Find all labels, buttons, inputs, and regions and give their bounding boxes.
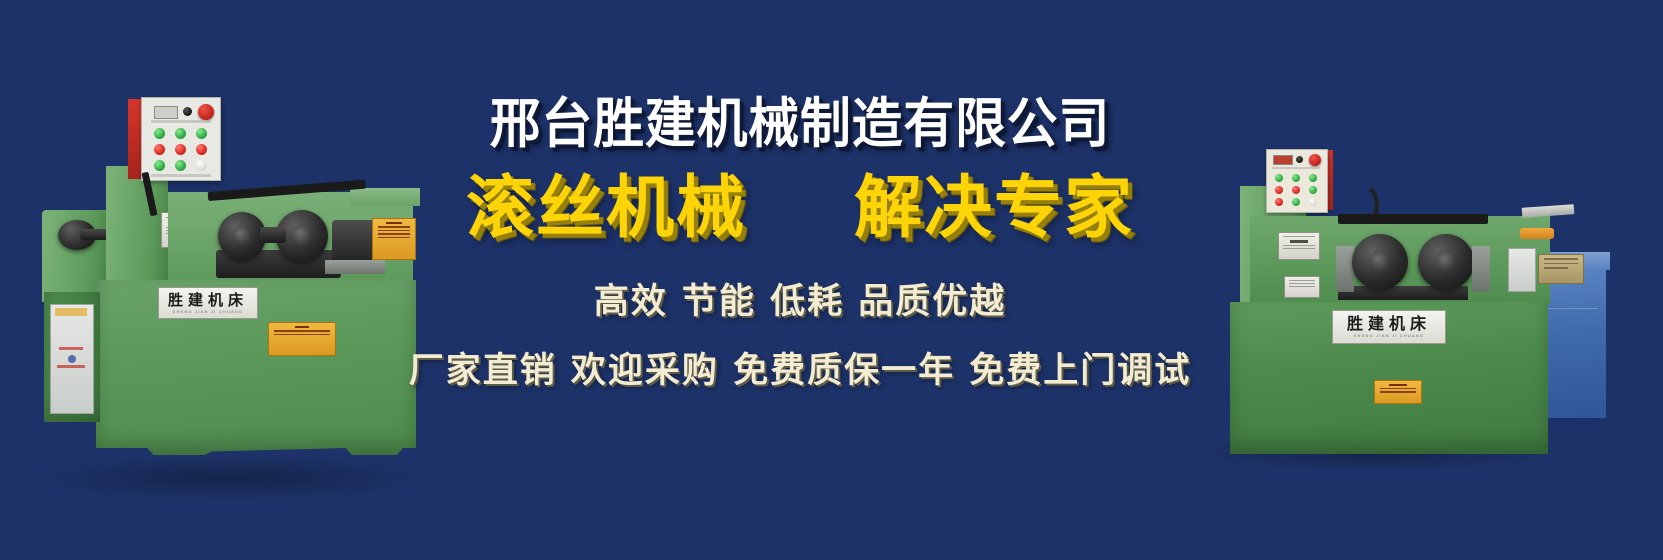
right-machine-nameplate-cn: 胜建机床 [1347, 316, 1431, 332]
left-machine-nameplate-cn: 胜建机床 [168, 293, 248, 308]
left-machine-motor-mount [325, 260, 385, 274]
right-machine-tooling-arm [1522, 204, 1575, 218]
headline-row: 滚丝机械 解决专家 [400, 175, 1200, 243]
right-machine-body-warning-plate [1374, 380, 1422, 404]
right-machine-indicator-r3[interactable] [1275, 198, 1283, 206]
left-machine-indicator-r3[interactable] [196, 144, 207, 155]
headline-right: 解决专家 [854, 175, 1134, 243]
right-machine-nameplate-pinyin: SHENG JIAN JI CHUANG [1354, 334, 1425, 338]
left-machine-nameplate: 胜建机床 SHENG JIAN JI CHUANG [158, 287, 258, 319]
right-machine-top-bar [1338, 214, 1488, 224]
left-machine-indicator-w1[interactable] [196, 160, 207, 171]
tagline-features: 高效 节能 低耗 品质优越 [400, 273, 1200, 324]
right-machine-panel-display [1273, 155, 1293, 165]
left-machine-indicator-g5[interactable] [175, 160, 186, 171]
right-machine-indicator-g5[interactable] [1292, 198, 1300, 206]
left-machine-indicator-g4[interactable] [154, 160, 165, 171]
left-machine-nameplate-pinyin: SHENG JIAN JI CHUANG [173, 310, 244, 314]
left-machine-roller-2-hub [291, 225, 313, 247]
right-machine-control-panel [1266, 149, 1328, 213]
headline-left: 滚丝机械 [466, 175, 746, 243]
right-machine-indicator-r2[interactable] [1292, 186, 1300, 194]
right-machine-valve-block [1508, 248, 1536, 292]
right-machine-roller-2-hub [1435, 251, 1457, 273]
left-machine-indicator-g1[interactable] [154, 128, 165, 139]
right-machine-panel-label-strip [1272, 167, 1320, 169]
left-machine-cabinet-text-2 [57, 365, 85, 368]
left-machine-body-warning-plate [268, 322, 336, 356]
left-machine-indicator-r1[interactable] [154, 144, 165, 155]
left-machine-panel-red-side [128, 99, 142, 179]
right-machine-roller-2 [1418, 234, 1474, 290]
left-machine-roller-1-hub [232, 226, 252, 246]
right-machine-indicator-w1[interactable] [1309, 198, 1317, 206]
left-machine-electrical-cabinet [50, 304, 94, 414]
left-machine-panel-footer-strip [151, 174, 211, 177]
right-machine-orange-connector-bank [1520, 228, 1554, 239]
left-machine-image: 胜建机床 SHENG JIAN JI CHUANG [20, 92, 430, 484]
left-machine-cabinet-logo [68, 355, 76, 363]
left-machine-control-panel [141, 97, 221, 181]
right-machine-brass-plate [1538, 254, 1584, 284]
right-machine-image: 胜建机床 SHENG JIAN JI CHUANG [1186, 128, 1586, 458]
left-machine-indicator-g3[interactable] [196, 128, 207, 139]
right-machine-left-slide [1336, 246, 1354, 292]
right-machine-indicator-g2[interactable] [1292, 174, 1300, 182]
promotional-banner: 胜建机床 SHENG JIAN JI CHUANG [0, 0, 1663, 560]
right-machine-side-small-plate [1284, 276, 1320, 298]
right-machine-right-slide [1472, 246, 1490, 292]
left-machine-panel-selector-knob[interactable] [183, 107, 192, 116]
left-machine-panel-label-strip [151, 120, 211, 123]
right-machine-indicator-r1[interactable] [1275, 186, 1283, 194]
left-machine-indicator-r2[interactable] [175, 144, 186, 155]
left-machine-roller-shaft [260, 227, 286, 243]
right-machine-indicator-g1[interactable] [1275, 174, 1283, 182]
company-title: 邢台胜建机械制造有限公司 [424, 96, 1176, 153]
right-machine-spec-plate [1278, 232, 1320, 260]
tagline-services: 厂家直销 欢迎采购 免费质保一年 免费上门调试 [400, 342, 1200, 393]
right-machine-panel-selector-knob[interactable] [1296, 156, 1303, 163]
left-machine-cabinet-vent [55, 308, 87, 316]
right-machine-roller-1 [1352, 234, 1408, 290]
right-machine-indicator-g3[interactable] [1309, 174, 1317, 182]
left-machine-panel-display [154, 106, 178, 119]
left-machine-emergency-stop-button[interactable] [198, 104, 214, 120]
right-machine-emergency-stop-button[interactable] [1309, 154, 1321, 166]
right-machine-indicator-g4[interactable] [1309, 186, 1317, 194]
left-machine-indicator-g2[interactable] [175, 128, 186, 139]
right-machine-roller-1-hub [1369, 251, 1391, 273]
left-machine-cabinet-text-1 [59, 347, 83, 350]
banner-text-block: 邢台胜建机械制造有限公司 滚丝机械 解决专家 高效 节能 低耗 品质优越 厂家直… [400, 96, 1200, 393]
right-machine-nameplate: 胜建机床 SHENG JIAN JI CHUANG [1332, 310, 1446, 344]
left-machine-roller-1 [218, 212, 266, 260]
